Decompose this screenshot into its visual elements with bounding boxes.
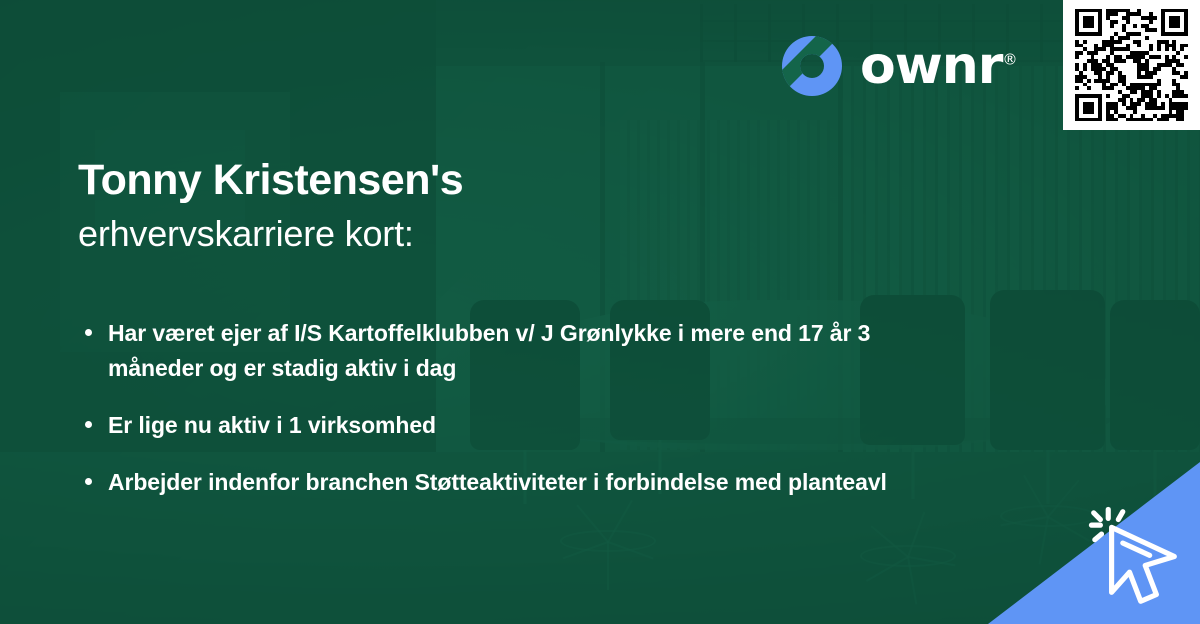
career-summary-list: Har været ejer af I/S Kartoffelklubben v… [80,316,940,522]
green-overlay-flat [0,0,1200,624]
bullet-dot-icon [85,478,92,485]
ownr-wordmark: ownr® [860,40,1017,92]
list-item-label: Arbejder indenfor branchen Støtteaktivit… [108,469,887,495]
list-item: Er lige nu aktiv i 1 virksomhed [80,408,940,443]
list-item-label: Har været ejer af I/S Kartoffelklubben v… [108,320,870,381]
click-cursor-icon [1078,496,1190,608]
list-item-label: Er lige nu aktiv i 1 virksomhed [108,412,436,438]
qr-code-panel[interactable] [1063,0,1200,130]
page-title: Tonny Kristensen's [78,155,958,206]
list-item: Arbejder indenfor branchen Støtteaktivit… [80,465,940,500]
headline-block: Tonny Kristensen's erhvervskarriere kort… [78,155,958,255]
page-subtitle: erhvervskarriere kort: [78,212,958,255]
registered-trademark-icon: ® [1002,51,1017,69]
bullet-dot-icon [85,421,92,428]
bullet-dot-icon [85,329,92,336]
ownr-wordmark-text: ownr [860,36,1002,96]
qr-code-icon[interactable] [1075,9,1188,122]
ownr-logo[interactable]: ownr® [780,34,1017,98]
list-item: Har været ejer af I/S Kartoffelklubben v… [80,316,940,386]
ownr-swirl-circle-icon [780,34,844,98]
business-card: ownr® Tonny Kristensen's erhvervskarrier… [0,0,1200,624]
